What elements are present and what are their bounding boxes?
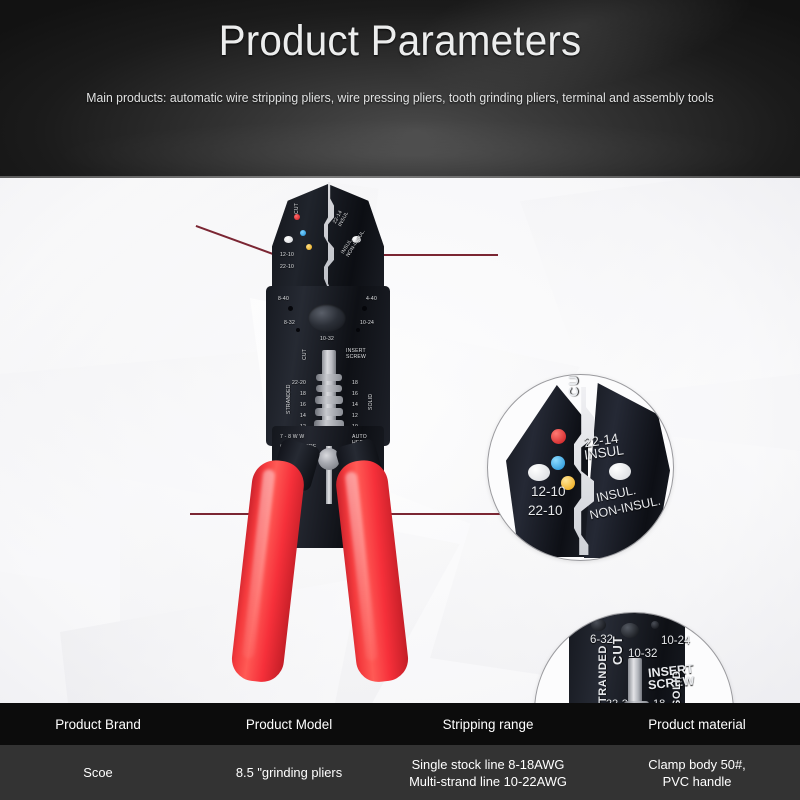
screw-hole-right-2 [356, 328, 360, 332]
spec-table-header-row: Product Brand Product Model Stripping ra… [0, 703, 800, 745]
tool-label-22-10: 22-10 [280, 264, 294, 270]
header-light-sheen-lower [60, 120, 760, 178]
tool-label-4-40: 4-40 [366, 296, 377, 302]
handle-left [230, 458, 307, 684]
magnified-label-22-10: 22-10 [528, 503, 563, 518]
magnified-label-cut-lower: CUT [610, 635, 625, 665]
tool-label-solid: SOLID [368, 394, 374, 410]
stripping-tooth [316, 385, 342, 392]
pliers-pivot-joint [308, 304, 346, 332]
magnified-label-solid: SOLID [671, 670, 683, 703]
page-title: Product Parameters [24, 16, 776, 66]
tool-label-insert-screw: INSERTSCREW [346, 348, 366, 360]
tool-label-10-32: 10-32 [320, 336, 334, 342]
cell-line: Single stock line 8-18AWG [388, 756, 588, 773]
page-subtitle: Main products: automatic wire stripping … [12, 89, 788, 107]
cell-line: Scoe [6, 764, 190, 781]
cell-line: Clamp body 50#, [600, 756, 794, 773]
product-parameters-page: Product Parameters Main products: automa… [0, 0, 800, 800]
tool-label-8-32: 8-32 [284, 320, 295, 326]
cell-line: PVC handle [600, 773, 794, 790]
magnified-label-cut: CUT [565, 374, 581, 397]
product-image-stage: CUT 22-14INSUL 12-10 22-10 INSUL.NON-INS… [0, 178, 800, 703]
cell-line: 8.5 "grinding pliers [202, 764, 376, 781]
cell-product-brand: Scoe [0, 745, 196, 800]
jaw-detail-magnifier: CUT 22-14 INSUL 12-10 22-10 INSUL. NON-I… [487, 374, 674, 561]
magnified-label-10-24: 10-24 [661, 635, 690, 647]
spec-table-data-row: Scoe 8.5 "grinding pliers Single stock l… [0, 745, 800, 800]
stripping-tooth [315, 408, 343, 416]
tool-label-cut-lower: CUT [302, 349, 308, 360]
tool-label-12-10: 12-10 [280, 252, 294, 258]
screw-hole-left [288, 306, 293, 311]
stripping-tooth [316, 374, 342, 381]
cell-product-model: 8.5 "grinding pliers [196, 745, 382, 800]
column-header-product-model: Product Model [196, 703, 382, 745]
screw-hole-left-2 [296, 328, 300, 332]
magnified-red-dot [551, 429, 566, 444]
blue-dot [300, 230, 306, 236]
tool-label-10-24: 10-24 [360, 320, 374, 326]
magnified-screw-hole-left [591, 619, 606, 631]
screw-hole-right [362, 306, 367, 311]
column-header-product-brand: Product Brand [0, 703, 196, 745]
pliers-illustration: CUT 22-14INSUL 12-10 22-10 INSUL.NON-INS… [228, 178, 428, 698]
white-dot-left [284, 236, 293, 243]
magnified-screw-hole-right [651, 621, 659, 629]
cell-line: Multi-strand line 10-22AWG [388, 773, 588, 790]
tool-label-8-40: 8-40 [278, 296, 289, 302]
column-header-stripping-range: Stripping range [382, 703, 594, 745]
magnified-screw-channel [628, 658, 642, 702]
cell-stripping-range: Single stock line 8-18AWG Multi-strand l… [382, 745, 594, 800]
magnified-white-dot-left [528, 464, 550, 481]
tool-label-cut-top: CUT [294, 203, 300, 214]
spec-table: Product Brand Product Model Stripping ra… [0, 703, 800, 800]
magnified-white-dot-right [609, 463, 631, 480]
column-header-product-material: Product material [594, 703, 800, 745]
magnified-label-12-10: 12-10 [531, 484, 566, 499]
cell-product-material: Clamp body 50#, PVC handle [594, 745, 800, 800]
stripping-tooth [315, 396, 343, 404]
red-dot [294, 214, 300, 220]
page-header: Product Parameters Main products: automa… [0, 0, 800, 178]
magnified-label-stranded: STRANDED [597, 645, 609, 703]
yellow-dot [306, 244, 312, 250]
magnified-blue-dot [551, 456, 565, 470]
handle-right [334, 458, 411, 684]
